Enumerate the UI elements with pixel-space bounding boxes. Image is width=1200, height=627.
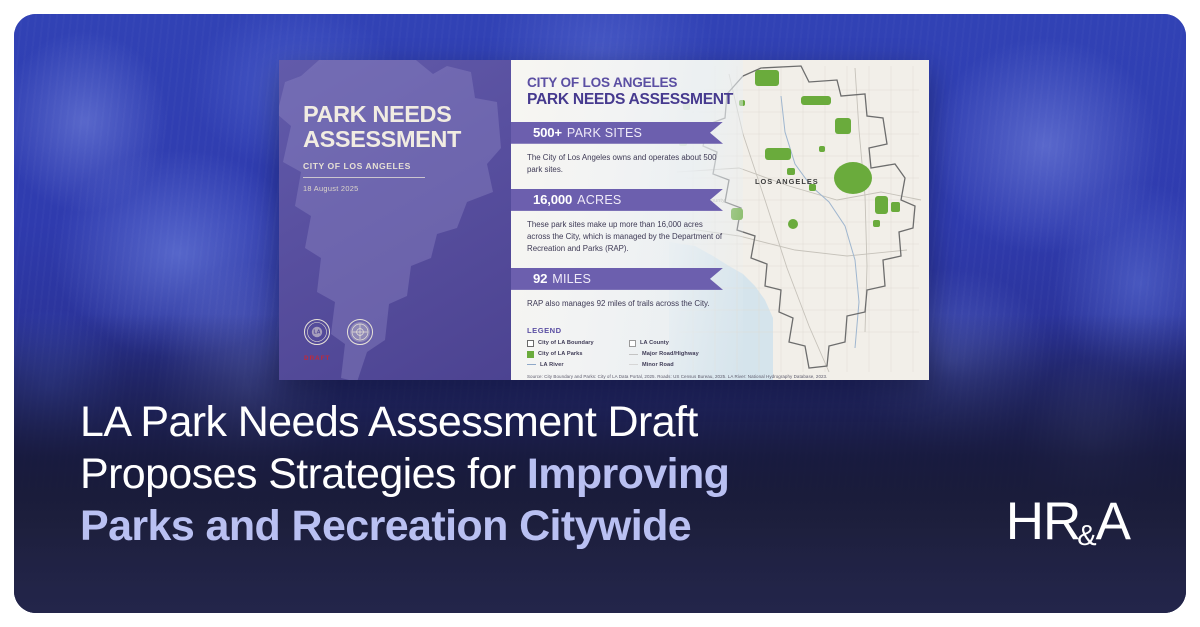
stat-description: RAP also manages 92 miles of trails acro…: [527, 298, 723, 310]
legend-item: Major Road/Highway: [629, 351, 739, 358]
hra-logo: HR&A: [1006, 498, 1130, 547]
stat-banner: 500+ PARK SITES: [511, 122, 723, 144]
stat-number: 16,000: [533, 192, 572, 207]
cover-subtitle: CITY OF LOS ANGELES: [303, 161, 487, 171]
headline-line3-accent: Parks and Recreation Citywide: [80, 502, 691, 550]
infographic-content: CITY OF LOS ANGELES PARK NEEDS ASSESSMEN…: [511, 60, 771, 379]
legend-title: LEGEND: [527, 326, 741, 335]
boundary-swatch-icon: [527, 340, 534, 347]
stat-number: 92: [533, 271, 547, 286]
stat-block-miles: 92 MILES RAP also manages 92 miles of tr…: [527, 268, 771, 310]
logo-ampersand: &: [1077, 522, 1095, 551]
document-preview[interactable]: PARK NEEDS ASSESSMENT CITY OF LOS ANGELE…: [279, 60, 929, 380]
legend-label: City of LA Boundary: [538, 340, 594, 346]
stat-number: 500+: [533, 125, 562, 140]
stat-description: The City of Los Angeles owns and operate…: [527, 152, 723, 176]
infographic-page: LOS ANGELES Los Angeles County CITY OF L…: [511, 60, 929, 380]
legend-item: Minor Road: [629, 362, 739, 368]
map-source-note: Source: City Boundary and Parks: City of…: [527, 374, 741, 379]
infographic-kicker: CITY OF LOS ANGELES: [527, 76, 771, 91]
legend-label: LA County: [640, 340, 669, 346]
legend-label: Major Road/Highway: [642, 351, 699, 357]
report-cover-page: PARK NEEDS ASSESSMENT CITY OF LOS ANGELE…: [279, 60, 511, 380]
legend-label: Minor Road: [642, 362, 674, 368]
headline-line2-plain: Proposes Strategies for: [80, 450, 527, 498]
minor-road-swatch-icon: [629, 364, 638, 365]
major-road-swatch-icon: [629, 354, 638, 355]
logo-a: A: [1096, 498, 1130, 547]
city-plan-seal-icon: LA: [303, 318, 331, 346]
legend-label: City of LA Parks: [538, 351, 583, 357]
river-swatch-icon: [527, 364, 536, 365]
stat-block-acres: 16,000 ACRES These park sites make up mo…: [527, 189, 771, 255]
cover-draft-badge: DRAFT: [304, 355, 330, 362]
city-of-los-angeles-seal-icon: [346, 318, 374, 346]
cover-date: 18 August 2025: [303, 184, 487, 193]
cover-title: PARK NEEDS ASSESSMENT: [303, 102, 487, 152]
legend-label: LA River: [540, 362, 564, 368]
stat-description: These park sites make up more than 16,00…: [527, 219, 723, 255]
stat-block-park-sites: 500+ PARK SITES The City of Los Angeles …: [527, 122, 771, 176]
parks-swatch-icon: [527, 351, 534, 358]
legend-item: City of LA Parks: [527, 351, 629, 358]
stat-label: PARK SITES: [567, 126, 642, 140]
logo-hr: HR: [1006, 498, 1081, 547]
stat-banner: 92 MILES: [511, 268, 723, 290]
legend-item: LA County: [629, 340, 739, 347]
cover-divider: [303, 177, 425, 178]
stat-label: MILES: [552, 272, 591, 286]
stat-banner: 16,000 ACRES: [511, 189, 723, 211]
cover-title-line1: PARK NEEDS: [303, 102, 487, 127]
headline-line2-accent: Improving: [527, 450, 729, 498]
headline: LA Park Needs Assessment Draft Proposes …: [80, 396, 940, 552]
stat-label: ACRES: [577, 193, 621, 207]
headline-line1: LA Park Needs Assessment Draft: [80, 398, 698, 446]
cover-seals: LA: [303, 318, 374, 346]
map-legend: LEGEND City of LA Boundary LA County: [527, 326, 741, 379]
cover-title-line2: ASSESSMENT: [303, 127, 487, 152]
social-share-card: PARK NEEDS ASSESSMENT CITY OF LOS ANGELE…: [14, 14, 1186, 613]
legend-item: LA River: [527, 362, 629, 368]
infographic-heading: PARK NEEDS ASSESSMENT: [527, 92, 771, 109]
svg-text:LA: LA: [314, 330, 321, 336]
legend-item: City of LA Boundary: [527, 340, 629, 347]
county-swatch-icon: [629, 340, 636, 347]
